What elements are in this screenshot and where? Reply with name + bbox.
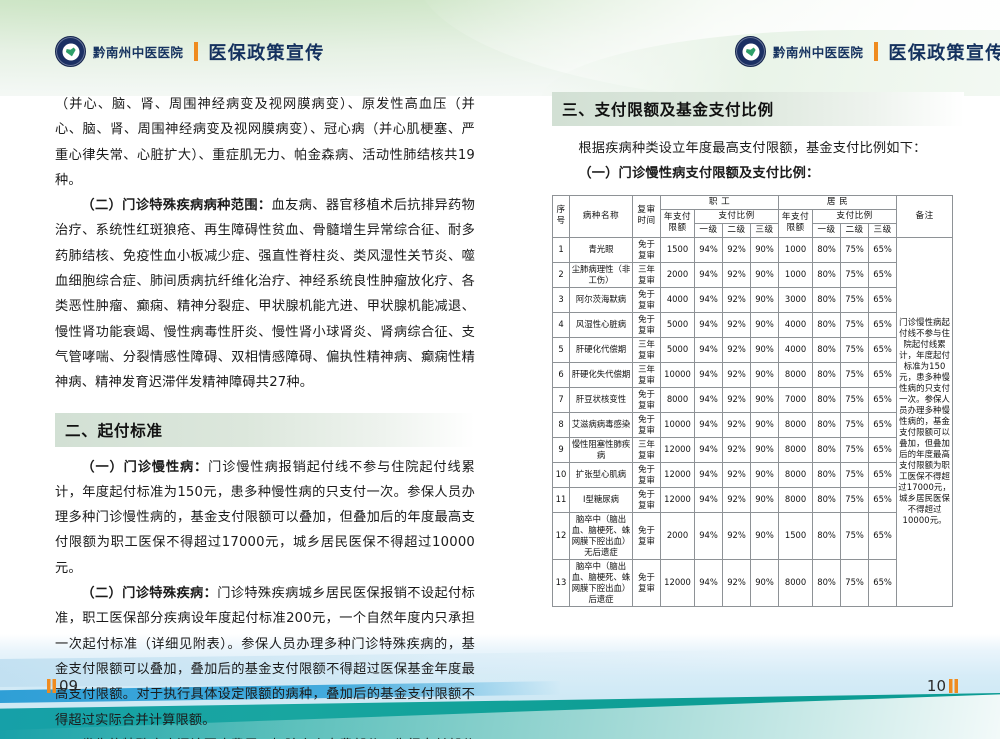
cell-resident-annual-limit: 8000 [779, 362, 813, 387]
cell-resident-level-2: 75% [841, 362, 869, 387]
cell-remark: 门诊慢性病起付线不参与住院起付线累计，年度起付标准为150元，患多种慢性病的只支… [897, 237, 953, 606]
table-row: 3阿尔茨海默病免于复审400094%92%90%300080%75%65% [553, 287, 953, 312]
th-employee-pay-ratio: 支付比例 [695, 209, 779, 223]
cell-employee-level-1: 94% [695, 412, 723, 437]
table-row: 10扩张型心肌病免于复审1200094%92%90%800080%75%65% [553, 462, 953, 487]
cell-index: 7 [553, 387, 570, 412]
hospital-name-left: 黔南州中医医院 [93, 42, 183, 61]
brand-divider-bar-right [874, 42, 878, 61]
th-resident-pay-ratio: 支付比例 [813, 209, 897, 223]
cell-resident-level-3: 65% [869, 412, 897, 437]
th-remark: 备注 [897, 195, 953, 237]
cell-employee-level-3: 90% [751, 437, 779, 462]
cell-employee-annual-limit: 2000 [661, 262, 695, 287]
th-employee-level-2: 二级 [723, 223, 751, 237]
page-number-right-value: 10 [927, 677, 946, 695]
cell-index: 10 [553, 462, 570, 487]
cell-employee-level-3: 90% [751, 512, 779, 559]
cell-resident-annual-limit: 8000 [779, 437, 813, 462]
page-marker-bars-icon [949, 679, 958, 693]
cell-resident-level-2: 75% [841, 559, 869, 606]
cell-index: 6 [553, 362, 570, 387]
cell-resident-level-3: 65% [869, 337, 897, 362]
cell-index: 9 [553, 437, 570, 462]
cell-employee-level-1: 94% [695, 437, 723, 462]
th-review-time: 复审时间 [633, 195, 661, 237]
cell-employee-level-1: 94% [695, 237, 723, 262]
chronic-disease-limits-table: 序号 病种名称 复审时间 职 工 居 民 备注 年支付限额 支付比例 年支付限额… [552, 195, 953, 607]
cell-resident-annual-limit: 8000 [779, 462, 813, 487]
cell-disease-name: 尘肺病理性（非工伤） [570, 262, 633, 287]
label-outpatient-chronic: （一）门诊慢性病： [81, 460, 208, 475]
th-group-employee: 职 工 [661, 195, 779, 209]
cell-review-time: 三年复审 [633, 262, 661, 287]
cell-review-time: 三年复审 [633, 362, 661, 387]
cell-index: 13 [553, 559, 570, 606]
table-row: 5肝硬化代偿期三年复审500094%92%90%400080%75%65% [553, 337, 953, 362]
cell-employee-level-2: 92% [723, 262, 751, 287]
cell-resident-level-1: 80% [813, 387, 841, 412]
table-row: 12脑卒中（脑出血、脑梗死、蛛网膜下腔出血）无后遗症免于复审200094%92%… [553, 512, 953, 559]
cell-employee-level-2: 92% [723, 412, 751, 437]
cell-resident-level-2: 75% [841, 412, 869, 437]
cell-disease-name: 脑卒中（脑出血、脑梗死、蛛网膜下腔出血）后遗症 [570, 559, 633, 606]
cell-employee-level-3: 90% [751, 487, 779, 512]
cell-resident-level-2: 75% [841, 287, 869, 312]
cell-resident-level-3: 65% [869, 387, 897, 412]
cell-resident-level-3: 65% [869, 262, 897, 287]
paragraph-special-disease-scope: （二）门诊特殊疾病病种范围：血友病、器官移植术后抗排异药物治疗、系统性红斑狼疮、… [55, 193, 475, 395]
cell-employee-level-1: 94% [695, 337, 723, 362]
cell-resident-level-2: 75% [841, 337, 869, 362]
header-brand-right: 黔南州中医医院 医保政策宣传 [735, 36, 1000, 67]
th-employee-level-1: 一级 [695, 223, 723, 237]
cell-resident-level-3: 65% [869, 437, 897, 462]
cell-employee-level-2: 92% [723, 387, 751, 412]
cell-index: 2 [553, 262, 570, 287]
text-outpatient-chronic: 门诊慢性病报销起付线不参与住院起付线累计，年度起付标准为150元，患多种慢性病的… [55, 460, 475, 576]
cell-resident-level-3: 65% [869, 312, 897, 337]
cell-disease-name: 慢性阻塞性肺疾病 [570, 437, 633, 462]
cell-employee-level-3: 90% [751, 462, 779, 487]
table-row: 8艾滋病病毒感染免于复审1000094%92%90%800080%75%65% [553, 412, 953, 437]
cell-review-time: 免于复审 [633, 312, 661, 337]
cell-employee-annual-limit: 8000 [661, 387, 695, 412]
cell-employee-level-3: 90% [751, 287, 779, 312]
section-header-deductible-standard: 二、起付标准 [55, 413, 475, 447]
cell-resident-level-2: 75% [841, 437, 869, 462]
cell-review-time: 免于复审 [633, 462, 661, 487]
cell-employee-annual-limit: 4000 [661, 287, 695, 312]
cell-resident-level-1: 80% [813, 437, 841, 462]
label-outpatient-special: （二）门诊特殊疾病： [81, 586, 217, 601]
table-row: 11Ⅰ型糖尿病免于复审1200094%92%90%800080%75%65% [553, 487, 953, 512]
cell-resident-level-1: 80% [813, 559, 841, 606]
cell-resident-annual-limit: 8000 [779, 412, 813, 437]
th-employee-level-3: 三级 [751, 223, 779, 237]
cell-review-time: 免于复审 [633, 387, 661, 412]
cell-employee-level-1: 94% [695, 462, 723, 487]
label-special-disease-scope: （二）门诊特殊疾病病种范围： [81, 198, 271, 213]
section-title-payment-limits: 三、支付限额及基金支付比例 [562, 98, 774, 120]
cell-disease-name: 肝豆状核变性 [570, 387, 633, 412]
page-number-left: 09 [47, 677, 78, 695]
cell-employee-annual-limit: 2000 [661, 512, 695, 559]
cell-disease-name: 肝硬化代偿期 [570, 337, 633, 362]
cell-employee-annual-limit: 12000 [661, 487, 695, 512]
cell-resident-annual-limit: 8000 [779, 487, 813, 512]
chronic-disease-limits-table-wrapper: 序号 病种名称 复审时间 职 工 居 民 备注 年支付限额 支付比例 年支付限额… [552, 195, 964, 607]
brand-divider-bar-left [194, 42, 198, 61]
cell-resident-level-1: 80% [813, 487, 841, 512]
table-body: 1青光眼免于复审150094%92%90%100080%75%65%门诊慢性病起… [553, 237, 953, 606]
cell-employee-level-2: 92% [723, 462, 751, 487]
cell-resident-level-1: 80% [813, 312, 841, 337]
cell-index: 5 [553, 337, 570, 362]
cell-employee-level-1: 94% [695, 312, 723, 337]
cell-employee-level-3: 90% [751, 362, 779, 387]
cell-review-time: 免于复审 [633, 287, 661, 312]
cell-disease-name: 青光眼 [570, 237, 633, 262]
cell-resident-level-2: 75% [841, 512, 869, 559]
cell-resident-level-2: 75% [841, 237, 869, 262]
cell-disease-name: 肝硬化失代偿期 [570, 362, 633, 387]
cell-index: 1 [553, 237, 570, 262]
cell-employee-annual-limit: 1500 [661, 237, 695, 262]
cell-resident-level-3: 65% [869, 287, 897, 312]
cell-employee-level-2: 92% [723, 559, 751, 606]
cell-resident-annual-limit: 8000 [779, 559, 813, 606]
th-resident-level-2: 二级 [841, 223, 869, 237]
cell-employee-level-2: 92% [723, 237, 751, 262]
paragraph-outpatient-special: （二）门诊特殊疾病：门诊特殊疾病城乡居民医保报销不设起付标准，职工医保部分疾病设… [55, 581, 475, 733]
th-resident-level-1: 一级 [813, 223, 841, 237]
cell-employee-level-1: 94% [695, 287, 723, 312]
paragraph-payment-lead: 根据疾病种类设立年度最高支付限额，基金支付比例如下： [552, 136, 964, 161]
cell-employee-annual-limit: 12000 [661, 437, 695, 462]
cell-review-time: 免于复审 [633, 412, 661, 437]
cell-resident-annual-limit: 7000 [779, 387, 813, 412]
cell-resident-level-1: 80% [813, 462, 841, 487]
right-page-column: 三、支付限额及基金支付比例 根据疾病种类设立年度最高支付限额，基金支付比例如下：… [552, 92, 964, 607]
cell-employee-annual-limit: 10000 [661, 362, 695, 387]
table-row: 2尘肺病理性（非工伤）三年复审200094%92%90%100080%75%65… [553, 262, 953, 287]
document-page: 黔南州中医医院 医保政策宣传 黔南州中医医院 医保政策宣传 （并心、脑、肾、周围… [0, 0, 1000, 739]
paragraph-outpatient-chronic: （一）门诊慢性病：门诊慢性病报销起付线不参与住院起付线累计，年度起付标准为150… [55, 455, 475, 581]
cell-resident-level-2: 75% [841, 387, 869, 412]
section-title-deductible-standard: 二、起付标准 [65, 419, 163, 441]
cell-resident-level-3: 65% [869, 237, 897, 262]
cell-review-time: 三年复审 [633, 437, 661, 462]
cell-employee-annual-limit: 12000 [661, 559, 695, 606]
cell-resident-level-1: 80% [813, 237, 841, 262]
text-special-disease-scope: 血友病、器官移植术后抗排异药物治疗、系统性红斑狼疮、再生障碍性贫血、骨髓增生异常… [55, 198, 475, 390]
cell-disease-name: 脑卒中（脑出血、脑梗死、蛛网膜下腔出血）无后遗症 [570, 512, 633, 559]
cell-employee-level-3: 90% [751, 337, 779, 362]
cell-resident-annual-limit: 4000 [779, 337, 813, 362]
cell-employee-level-2: 92% [723, 287, 751, 312]
cell-resident-level-3: 65% [869, 512, 897, 559]
label-subsection-chronic-limits: （一）门诊慢性病支付限额及支付比例： [578, 166, 819, 181]
table-row: 1青光眼免于复审150094%92%90%100080%75%65%门诊慢性病起… [553, 237, 953, 262]
cell-employee-level-3: 90% [751, 237, 779, 262]
cell-resident-level-2: 75% [841, 487, 869, 512]
hospital-seal-icon [55, 36, 86, 67]
cell-review-time: 免于复审 [633, 512, 661, 559]
header-brand-left: 黔南州中医医院 医保政策宣传 [55, 36, 325, 67]
cell-employee-level-2: 92% [723, 312, 751, 337]
cell-disease-name: 风湿性心脏病 [570, 312, 633, 337]
cell-resident-annual-limit: 1000 [779, 237, 813, 262]
cell-resident-level-2: 75% [841, 312, 869, 337]
cell-employee-level-2: 92% [723, 362, 751, 387]
table-row: 7肝豆状核变性免于复审800094%92%90%700080%75%65% [553, 387, 953, 412]
cell-employee-level-1: 94% [695, 487, 723, 512]
cell-resident-level-1: 80% [813, 287, 841, 312]
cell-resident-annual-limit: 1000 [779, 262, 813, 287]
cell-review-time: 免于复审 [633, 487, 661, 512]
cell-employee-annual-limit: 5000 [661, 312, 695, 337]
table-row: 6肝硬化失代偿期三年复审1000094%92%90%800080%75%65% [553, 362, 953, 387]
text-outpatient-special: 门诊特殊疾病城乡居民医保报销不设起付标准，职工医保部分疾病设年度起付标准200元… [55, 586, 475, 727]
cell-review-time: 三年复审 [633, 337, 661, 362]
cell-resident-annual-limit: 1500 [779, 512, 813, 559]
cell-disease-name: 扩张型心肌病 [570, 462, 633, 487]
hospital-seal-icon [735, 36, 766, 67]
cell-employee-level-2: 92% [723, 437, 751, 462]
th-resident-annual-limit: 年支付限额 [779, 209, 813, 237]
page-number-left-value: 09 [59, 677, 78, 695]
cell-employee-annual-limit: 10000 [661, 412, 695, 437]
paragraph-disease-list-continued: （并心、脑、肾、周围神经病变及视网膜病变）、原发性高血压（并心、脑、肾、周围神经… [55, 92, 475, 193]
cell-employee-annual-limit: 5000 [661, 337, 695, 362]
cell-resident-level-3: 65% [869, 559, 897, 606]
cell-resident-annual-limit: 4000 [779, 312, 813, 337]
cell-employee-level-3: 90% [751, 559, 779, 606]
table-row: 4风湿性心脏病免于复审500094%92%90%400080%75%65% [553, 312, 953, 337]
left-page-column: （并心、脑、肾、周围神经病变及视网膜病变）、原发性高血压（并心、脑、肾、周围神经… [55, 92, 475, 739]
cell-resident-level-2: 75% [841, 462, 869, 487]
header-slogan-left: 医保政策宣传 [208, 39, 324, 65]
cell-employee-level-3: 90% [751, 412, 779, 437]
paragraph-subsection-chronic-limits: （一）门诊慢性病支付限额及支付比例： [552, 161, 964, 186]
cell-index: 8 [553, 412, 570, 437]
cell-employee-level-1: 94% [695, 512, 723, 559]
table-header: 序号 病种名称 复审时间 职 工 居 民 备注 年支付限额 支付比例 年支付限额… [553, 195, 953, 237]
th-disease-name: 病种名称 [570, 195, 633, 237]
cell-review-time: 免于复审 [633, 559, 661, 606]
cell-resident-level-3: 65% [869, 487, 897, 512]
cell-resident-level-2: 75% [841, 262, 869, 287]
cell-index: 12 [553, 512, 570, 559]
cell-disease-name: Ⅰ型糖尿病 [570, 487, 633, 512]
th-group-resident: 居 民 [779, 195, 897, 209]
cell-resident-level-1: 80% [813, 337, 841, 362]
cell-employee-annual-limit: 12000 [661, 462, 695, 487]
cell-resident-level-3: 65% [869, 362, 897, 387]
th-index: 序号 [553, 195, 570, 237]
table-header-row-1: 序号 病种名称 复审时间 职 工 居 民 备注 [553, 195, 953, 209]
th-employee-annual-limit: 年支付限额 [661, 209, 695, 237]
paragraph-special-disease-payment: 发生的特殊疾病门诊医疗费用，扣除个人自费部分、先行自付部分以后，由基金按比例支付… [55, 733, 475, 739]
cell-resident-level-1: 80% [813, 412, 841, 437]
cell-employee-level-1: 94% [695, 559, 723, 606]
cell-employee-level-3: 90% [751, 262, 779, 287]
page-marker-bars-icon [47, 679, 56, 693]
cell-index: 3 [553, 287, 570, 312]
header-slogan-right: 医保政策宣传 [888, 39, 1000, 65]
section-header-payment-limits: 三、支付限额及基金支付比例 [552, 92, 964, 126]
cell-resident-level-1: 80% [813, 512, 841, 559]
cell-resident-annual-limit: 3000 [779, 287, 813, 312]
cell-employee-level-1: 94% [695, 362, 723, 387]
cell-index: 11 [553, 487, 570, 512]
cell-employee-level-2: 92% [723, 337, 751, 362]
cell-index: 4 [553, 312, 570, 337]
cell-disease-name: 阿尔茨海默病 [570, 287, 633, 312]
table-row: 13脑卒中（脑出血、脑梗死、蛛网膜下腔出血）后遗症免于复审1200094%92%… [553, 559, 953, 606]
cell-employee-level-3: 90% [751, 387, 779, 412]
cell-resident-level-3: 65% [869, 462, 897, 487]
page-number-right: 10 [927, 677, 958, 695]
th-resident-level-3: 三级 [869, 223, 897, 237]
cell-resident-level-1: 80% [813, 362, 841, 387]
cell-review-time: 免于复审 [633, 237, 661, 262]
table-row: 9慢性阻塞性肺疾病三年复审1200094%92%90%800080%75%65% [553, 437, 953, 462]
cell-resident-level-1: 80% [813, 262, 841, 287]
cell-employee-level-1: 94% [695, 387, 723, 412]
hospital-name-right: 黔南州中医医院 [773, 42, 863, 61]
cell-employee-level-2: 92% [723, 487, 751, 512]
cell-employee-level-2: 92% [723, 512, 751, 559]
cell-employee-level-1: 94% [695, 262, 723, 287]
cell-disease-name: 艾滋病病毒感染 [570, 412, 633, 437]
cell-employee-level-3: 90% [751, 312, 779, 337]
